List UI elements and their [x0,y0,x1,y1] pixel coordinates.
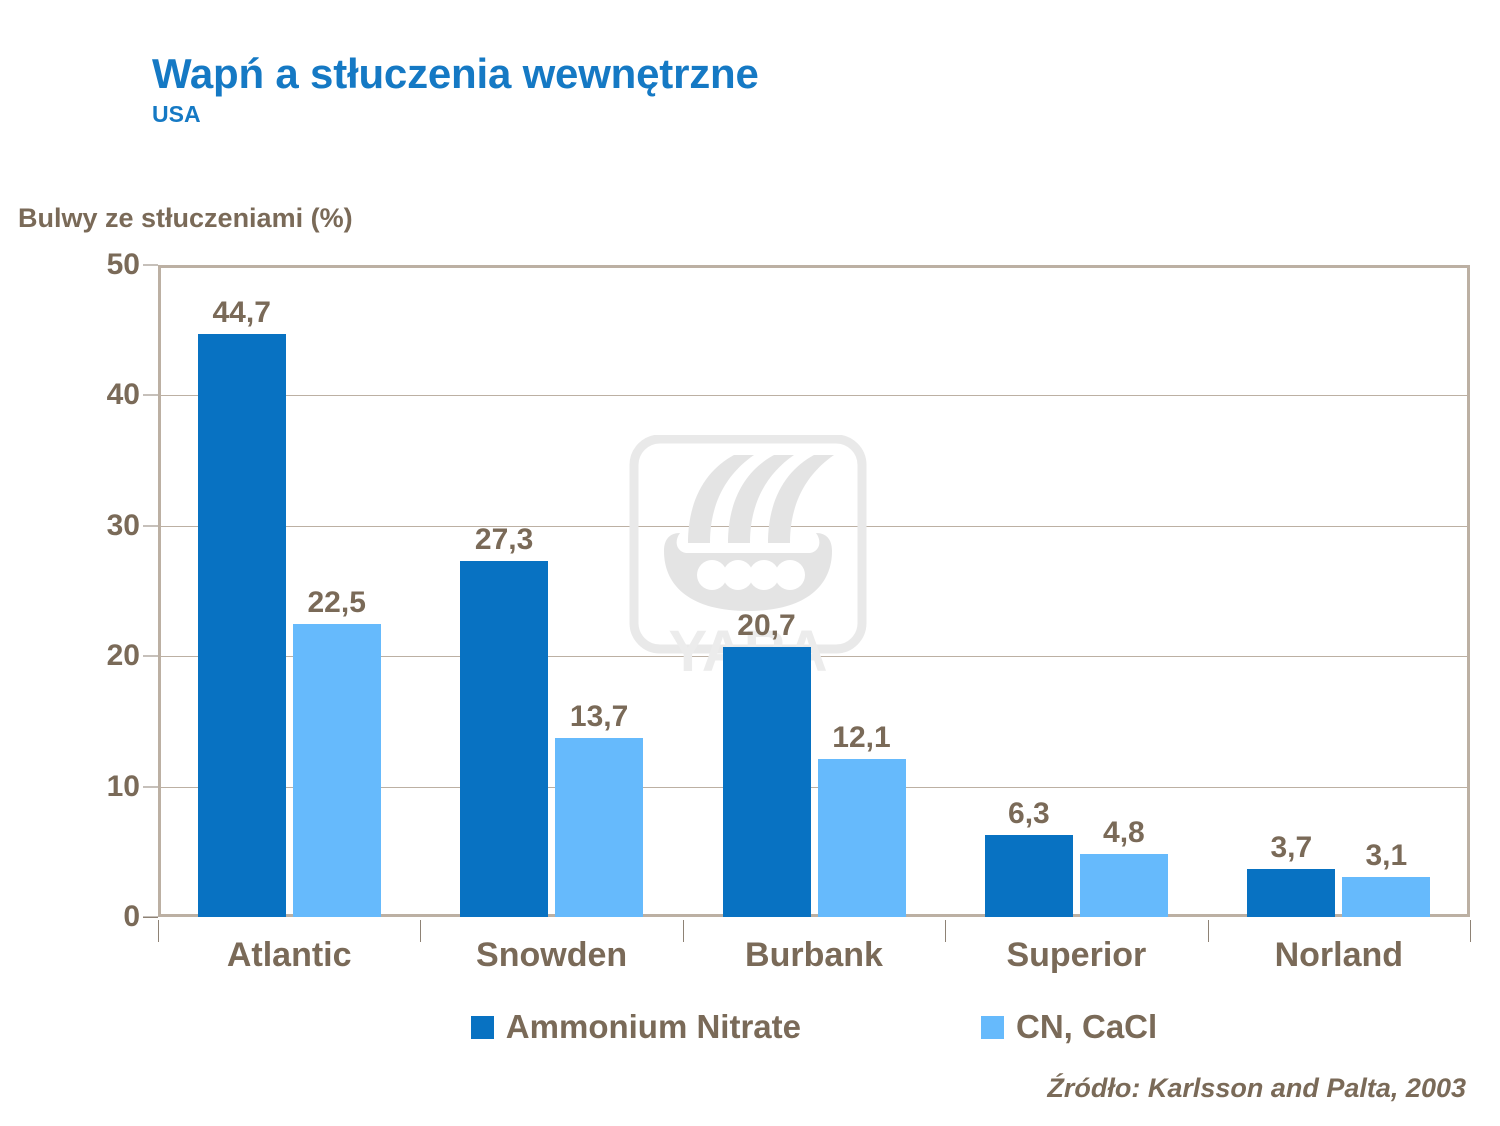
title-block: Wapń a stłuczenia wewnętrzne USA [152,52,759,127]
legend-label: CN, CaCl [1016,1008,1157,1046]
y-tick-mark [143,656,158,657]
bar-snowden-series0[interactable]: 27,3 [460,561,548,917]
bar-value-label: 13,7 [570,700,628,734]
bar-snowden-series1[interactable]: 13,7 [555,738,643,917]
y-tick-label: 50 [62,248,140,282]
bar-value-label: 27,3 [475,523,533,557]
bar-value-label: 20,7 [737,609,795,643]
y-axis-caption: Bulwy ze stłuczeniami (%) [18,203,353,234]
y-tick-mark [143,786,158,787]
bar-burbank-series1[interactable]: 12,1 [818,759,906,917]
plot-area: YARA 44,722,527,313,720,712,16,34,83,73,… [158,265,1470,917]
x-category-separator [945,920,946,942]
source-note: Źródło: Karlsson and Palta, 2003 [1047,1073,1466,1104]
bar-norland-series0[interactable]: 3,7 [1247,869,1335,917]
y-tick-mark [143,265,158,266]
x-category-separator [1208,920,1209,942]
legend-label: Ammonium Nitrate [506,1008,801,1046]
y-tick-label: 40 [62,378,140,412]
x-category-label-atlantic: Atlantic [158,936,420,975]
y-tick-label: 20 [62,639,140,673]
y-tick-label: 30 [62,509,140,543]
bar-value-label: 22,5 [307,586,365,620]
bar-value-label: 12,1 [832,721,890,755]
chart-legend: Ammonium NitrateCN, CaCl [158,1008,1470,1046]
legend-swatch-icon [471,1016,494,1039]
y-tick-mark [143,525,158,526]
bar-value-label: 4,8 [1103,816,1145,850]
x-category-label-burbank: Burbank [683,936,945,975]
y-tick-label: 0 [62,900,140,934]
bar-superior-series0[interactable]: 6,3 [985,835,1073,917]
x-category-separator [1470,920,1471,942]
legend-item-ammonium-nitrate[interactable]: Ammonium Nitrate [471,1008,801,1046]
y-tick-mark [143,395,158,396]
page-subtitle: USA [152,102,759,127]
bars-layer: 44,722,527,313,720,712,16,34,83,73,1 [158,265,1470,917]
legend-swatch-icon [981,1016,1004,1039]
x-category-separator [158,920,159,942]
bar-atlantic-series0[interactable]: 44,7 [198,334,286,917]
bar-value-label: 44,7 [212,296,270,330]
y-tick-label: 10 [62,770,140,804]
bar-value-label: 6,3 [1008,797,1050,831]
bar-value-label: 3,1 [1365,839,1407,873]
x-category-separator [420,920,421,942]
x-category-separator [683,920,684,942]
bar-value-label: 3,7 [1270,831,1312,865]
bar-norland-series1[interactable]: 3,1 [1342,877,1430,917]
page-title: Wapń a stłuczenia wewnętrzne [152,52,759,96]
x-category-label-norland: Norland [1208,936,1470,975]
bar-superior-series1[interactable]: 4,8 [1080,854,1168,917]
x-category-label-superior: Superior [945,936,1207,975]
legend-item-cn-cacl[interactable]: CN, CaCl [981,1008,1157,1046]
x-category-label-snowden: Snowden [420,936,682,975]
bar-atlantic-series1[interactable]: 22,5 [293,624,381,917]
bar-burbank-series0[interactable]: 20,7 [723,647,811,917]
x-axis-origin-tick [143,917,158,918]
